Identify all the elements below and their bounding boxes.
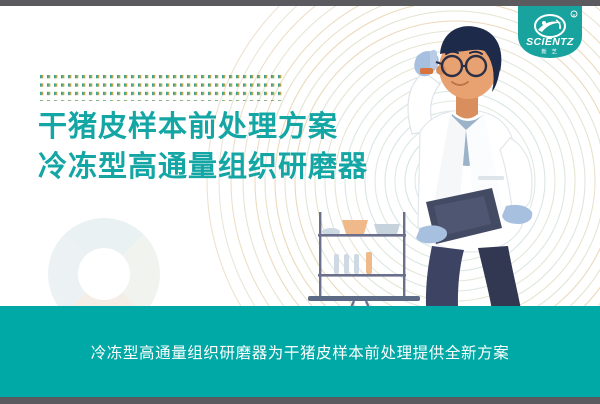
- svg-text:R: R: [573, 12, 576, 17]
- viewer-chrome-top-strip: [0, 0, 600, 6]
- logo-wordmark: SCIENTZ: [526, 36, 574, 48]
- scientz-logo[interactable]: R SCIENTZ 新 芝: [512, 6, 588, 58]
- screenshot-viewport: 干猪皮样本前处理方案 冷冻型高通量组织研磨器 R SCIENTZ 新 芝 冷冻型…: [0, 0, 600, 404]
- headline-line-2: 冷冻型高通量组织研磨器: [38, 150, 368, 184]
- viewer-chrome-bottom-strip: [0, 397, 600, 404]
- promo-poster: 干猪皮样本前处理方案 冷冻型高通量组织研磨器 R SCIENTZ 新 芝 冷冻型…: [0, 6, 600, 397]
- headline-line-1: 干猪皮样本前处理方案: [38, 110, 368, 144]
- lab-trolley-with-glassware: [300, 192, 440, 322]
- page-title: 干猪皮样本前处理方案 冷冻型高通量组织研磨器: [38, 110, 368, 184]
- logo-sub-wordmark: 新 芝: [541, 48, 558, 56]
- dot-grid-gradient: [40, 75, 282, 101]
- banner-text: 冷冻型高通量组织研磨器为干猪皮样本前处理提供全新方案: [91, 341, 510, 363]
- bottom-banner: 冷冻型高通量组织研磨器为干猪皮样本前处理提供全新方案: [0, 306, 600, 397]
